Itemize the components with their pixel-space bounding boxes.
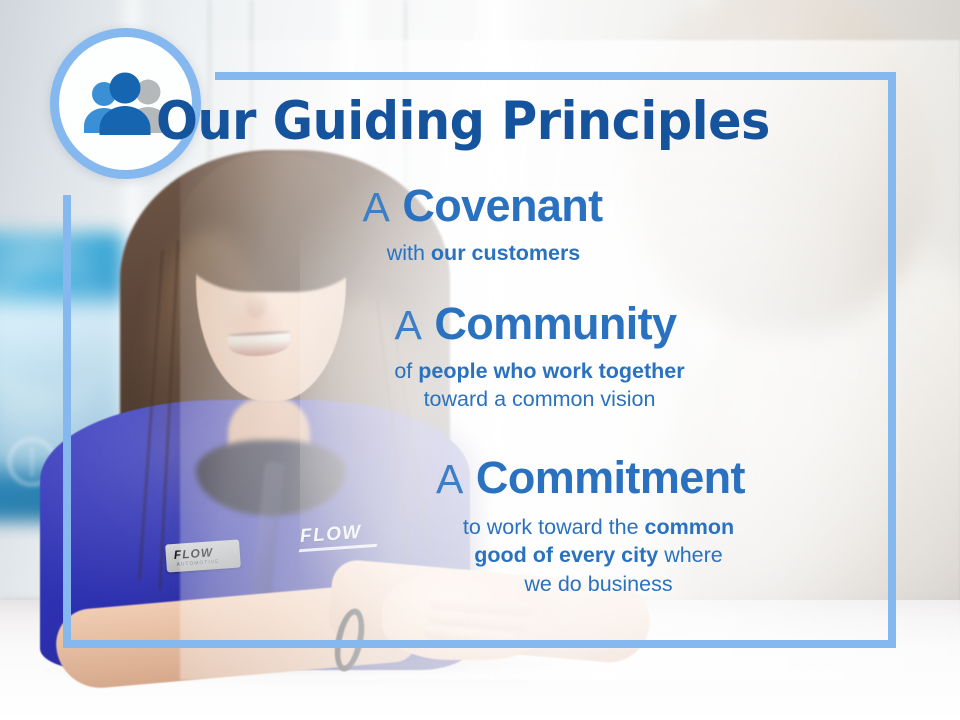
subtext-segment-bold: people who work together bbox=[418, 359, 684, 383]
subtext-segment-bold: our customers bbox=[431, 241, 580, 265]
page-title: Our Guiding Principles bbox=[91, 94, 835, 150]
principle-heading: A Commitment bbox=[63, 454, 896, 502]
principle-subtext: with our customers bbox=[63, 230, 896, 268]
principle-heading: A Covenant bbox=[63, 182, 896, 230]
principle-article: A bbox=[362, 184, 389, 230]
principle-subtext: to work toward the common good of every … bbox=[63, 502, 896, 599]
principle-heading: A Community bbox=[63, 300, 896, 348]
text-content: Our Guiding Principles A Covenant with o… bbox=[63, 72, 896, 648]
subtext-segment-bold: common bbox=[645, 515, 735, 539]
principle-commitment: A Commitment to work toward the common g… bbox=[63, 454, 896, 598]
subtext-line: to work toward the common bbox=[301, 513, 896, 542]
subtext-segment: of bbox=[394, 359, 418, 383]
subtext-line: toward a common vision bbox=[183, 385, 896, 414]
subtext-line: we do business bbox=[301, 570, 896, 599]
principle-word: Covenant bbox=[402, 180, 602, 231]
subtext-segment: with bbox=[387, 241, 431, 265]
subtext-segment: toward a common vision bbox=[424, 387, 656, 411]
principle-article: A bbox=[436, 456, 463, 502]
subtext-line: of people who work together bbox=[183, 357, 896, 386]
subtext-segment-bold: good of every city bbox=[474, 543, 658, 567]
principle-community: A Community of people who work together … bbox=[63, 300, 896, 414]
principle-word: Commitment bbox=[476, 452, 745, 503]
principle-covenant: A Covenant with our customers bbox=[63, 182, 896, 267]
banner-graphic: FLOW AUTOMOTIVE FLOW bbox=[0, 0, 960, 720]
principle-article: A bbox=[395, 302, 422, 348]
subtext-line: good of every city where bbox=[301, 541, 896, 570]
subtext-segment: where bbox=[658, 543, 723, 567]
principle-subtext: of people who work together toward a com… bbox=[63, 348, 896, 414]
subtext-segment: to work toward the bbox=[463, 515, 645, 539]
principle-word: Community bbox=[434, 298, 676, 349]
subtext-segment: we do business bbox=[524, 572, 672, 596]
